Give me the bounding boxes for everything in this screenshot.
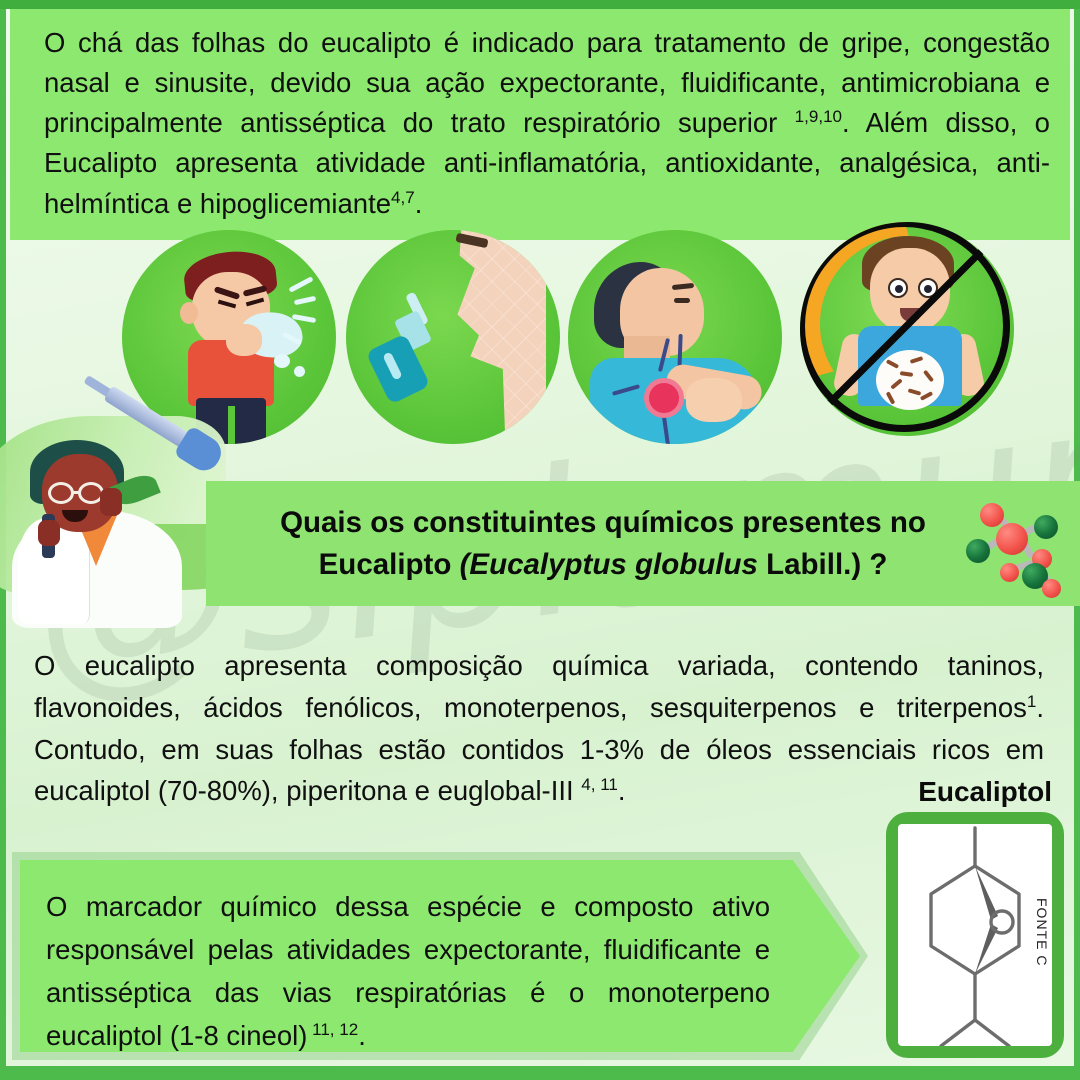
eucaliptol-card: FONTE C — [886, 812, 1064, 1058]
middle-paragraph-ref1: 1 — [1027, 692, 1036, 711]
eucaliptol-label: Eucaliptol — [918, 776, 1052, 808]
middle-paragraph-text: O eucalipto apresenta composição química… — [34, 645, 1044, 812]
eucaliptol-source-label: FONTE C — [1034, 898, 1050, 966]
eucalyptol-structure-svg — [898, 824, 1052, 1046]
frame-bottom-border — [0, 1066, 1080, 1080]
question-line-1: Quais os constituintes químicos presente… — [222, 502, 984, 543]
bottom-panel-fill: O marcador químico dessa espécie e compo… — [20, 860, 860, 1052]
question-species-name: (Eucalyptus globulus — [460, 548, 758, 581]
top-paragraph-ref1: 1,9,10 — [795, 107, 842, 126]
top-paragraph-ref2: 4,7 — [391, 187, 415, 206]
frame-top-border — [0, 0, 1080, 9]
molecule-model-icon — [966, 497, 1062, 597]
eucalyptol-structure-icon: FONTE C — [898, 824, 1052, 1046]
middle-paragraph-ref2: 4, 11 — [581, 775, 618, 794]
nasal-spray-icon — [346, 230, 560, 444]
question-line-2: Eucalipto (Eucalyptus globulus Labill.) … — [222, 544, 984, 585]
bottom-paragraph-ref1: 11, 12 — [307, 1020, 358, 1039]
middle-paragraph-part3: . — [618, 775, 626, 806]
question-text: Quais os constituintes químicos presente… — [206, 502, 1080, 585]
top-paragraph-text: O chá das folhas do eucalipto é indicado… — [44, 23, 1050, 224]
question-banner: Quais os constituintes químicos presente… — [206, 481, 1080, 606]
top-paragraph-panel: O chá das folhas do eucalipto é indicado… — [10, 9, 1070, 240]
shoulder-pain-icon — [568, 230, 782, 444]
bottom-paragraph-text: O marcador químico dessa espécie e compo… — [46, 886, 770, 1058]
anti-helminthic-icon — [800, 222, 1014, 436]
infographic-page: @siplamundo O chá das folhas do eucalipt… — [0, 0, 1080, 1080]
middle-paragraph-panel: O eucalipto apresenta composição química… — [34, 645, 1044, 812]
question-line2-suffix: Labill.) ? — [758, 548, 887, 581]
bottom-paragraph-part2: . — [358, 1020, 366, 1051]
question-line2-prefix: Eucalipto — [319, 548, 460, 581]
bottom-paragraph-panel: O marcador químico dessa espécie e compo… — [12, 852, 868, 1060]
bottom-paragraph-part1: O marcador químico dessa espécie e compo… — [46, 891, 770, 1051]
middle-paragraph-part1: O eucalipto apresenta composição química… — [34, 650, 1044, 723]
scientist-illustration — [0, 392, 234, 622]
